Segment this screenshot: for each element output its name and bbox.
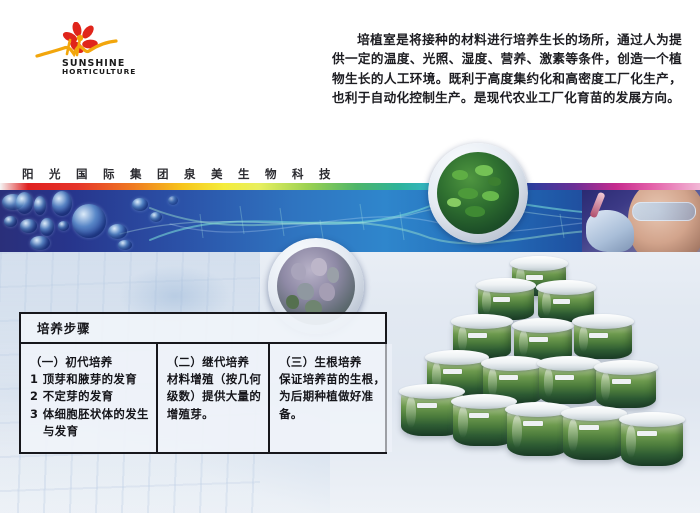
bubble xyxy=(4,216,17,227)
step-2-line-1: 材料增殖（按几何 xyxy=(167,371,261,388)
bubble xyxy=(34,196,46,215)
header-area: SUNSHINE HORTICULTURE 培植室是将接种的材料进行培养生长的场… xyxy=(0,0,700,183)
green-plantlet-culture-cup-photo xyxy=(428,143,528,243)
bubble xyxy=(30,236,50,250)
intro-text: 培植室是将接种的材料进行培养生长的场所，通过人为提供一定的温度、光照、湿度、营养… xyxy=(332,32,682,105)
step-2-line-3: 增殖芽。 xyxy=(167,406,261,423)
bubble xyxy=(108,224,127,239)
bubble xyxy=(72,204,106,238)
steps-table-body: （一）初代培养 1 顶芽和腋芽的发育 2 不定芽的发育 3 体细胞胚状体的发生 … xyxy=(21,344,385,452)
rainbow-divider xyxy=(0,183,700,190)
culture-cup xyxy=(621,412,683,466)
step-1-heading: （一）初代培养 xyxy=(30,354,149,371)
culture-steps-table: 培养步骤 （一）初代培养 1 顶芽和腋芽的发育 2 不定芽的发育 3 体细胞胚状… xyxy=(19,312,387,454)
company-tagline: 阳光国际集团泉美生物科技 xyxy=(22,166,346,182)
bubble xyxy=(52,191,72,216)
bubble xyxy=(150,212,162,222)
culture-cup xyxy=(563,406,625,460)
culture-cup xyxy=(574,314,632,359)
culture-cup xyxy=(507,402,569,456)
step-3-line-1: 保证培养苗的生根， xyxy=(279,371,385,388)
logo-wordmark-line2: HORTICULTURE xyxy=(62,67,136,76)
steps-column-2: （二）继代培养 材料增殖（按几何 级数）提供大量的 增殖芽。 xyxy=(158,344,270,452)
step-3-line-2: 为后期种植做好准 xyxy=(279,388,385,405)
bubble xyxy=(118,240,132,250)
step-1-line-1: 1 顶芽和腋芽的发育 xyxy=(30,371,149,388)
safety-goggles-icon xyxy=(632,202,696,221)
steps-column-3: （三）生根培养 保证培养苗的生根， 为后期种植做好准 备。 xyxy=(270,344,392,452)
sunshine-horticulture-logo: SUNSHINE HORTICULTURE xyxy=(33,22,153,80)
bubble xyxy=(16,192,33,214)
culture-cup xyxy=(596,360,656,408)
swoosh-icon xyxy=(37,39,116,56)
intro-paragraph: 培植室是将接种的材料进行培养生长的场所，通过人为提供一定的温度、光照、湿度、营养… xyxy=(332,30,682,108)
bubble xyxy=(58,221,69,231)
bubble xyxy=(40,218,54,236)
technician-face xyxy=(628,190,700,252)
step-3-line-3: 备。 xyxy=(279,406,385,423)
step-2-heading: （二）继代培养 xyxy=(167,354,261,371)
poster-page: SUNSHINE HORTICULTURE 培植室是将接种的材料进行培养生长的场… xyxy=(0,0,700,513)
bubble xyxy=(168,196,178,205)
culture-cup xyxy=(453,394,515,446)
step-2-line-2: 级数）提供大量的 xyxy=(167,388,261,405)
tissue-culture-cup-pyramid xyxy=(383,256,700,474)
bubble xyxy=(20,219,37,233)
steps-table-title: 培养步骤 xyxy=(21,314,385,344)
step-3-heading: （三）生根培养 xyxy=(279,354,385,371)
steps-column-1: （一）初代培养 1 顶芽和腋芽的发育 2 不定芽的发育 3 体细胞胚状体的发生 … xyxy=(21,344,158,452)
step-1-line-4: 与发育 xyxy=(30,423,149,440)
lab-technician-photo xyxy=(582,190,700,252)
bubble xyxy=(132,198,148,211)
culture-cup xyxy=(539,356,599,404)
step-1-line-3: 3 体细胞胚状体的发生 xyxy=(30,406,149,423)
step-1-line-2: 2 不定芽的发育 xyxy=(30,388,149,405)
